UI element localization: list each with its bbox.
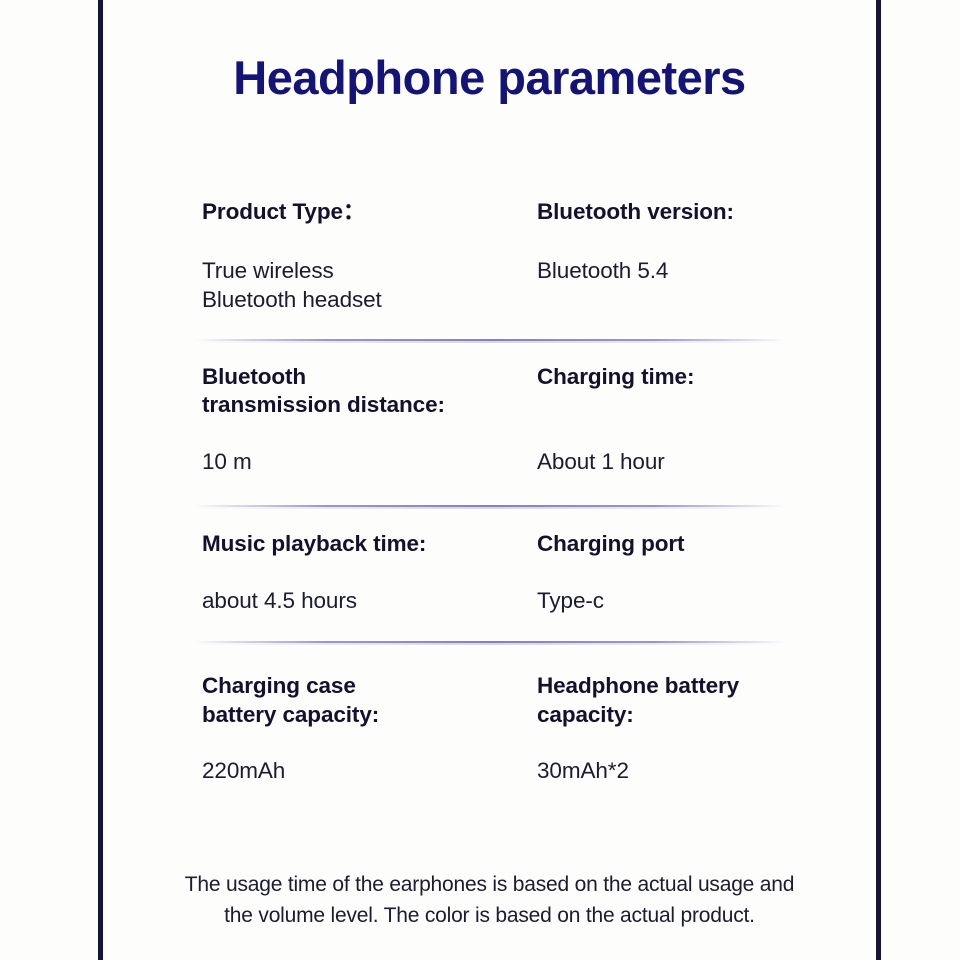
spec-value: Type-c [537,587,876,615]
spec-sheet-page: Headphone parameters Product Type： True … [0,0,960,960]
spec-label: Bluetooth version: [537,198,876,226]
spec-cell-product-type: Product Type： True wireless Bluetooth he… [103,178,470,314]
specification-table: Product Type： True wireless Bluetooth he… [103,178,876,785]
table-row: Music playback time: about 4.5 hours Cha… [103,507,876,616]
spec-value: about 4.5 hours [202,587,470,615]
spec-cell-bluetooth-version: Bluetooth version: Bluetooth 5.4 [470,178,876,314]
spec-value: 30mAh*2 [537,757,876,785]
spec-cell-charging-time: Charging time: About 1 hour [470,341,876,477]
spec-label: Bluetooth transmission distance: [202,363,470,420]
spec-label: Charging time: [537,363,876,391]
footnote: The usage time of the earphones is based… [103,869,876,931]
table-row: Bluetooth transmission distance: 10 m Ch… [103,341,876,477]
spec-label: Headphone battery capacity: [537,672,876,729]
spec-value: 10 m [202,448,470,476]
spec-value: 220mAh [202,757,470,785]
spec-value: Bluetooth 5.4 [537,257,876,285]
spec-label: Charging port [537,530,876,558]
frame-rule-right [876,0,881,960]
table-row: Product Type： True wireless Bluetooth he… [103,178,876,314]
spec-label: Charging case battery capacity: [202,672,470,729]
spec-value: About 1 hour [537,448,876,476]
spec-cell-headphone-battery-capacity: Headphone battery capacity: 30mAh*2 [470,643,876,785]
table-row: Charging case battery capacity: 220mAh H… [103,643,876,785]
spec-label: Product Type： [202,198,470,226]
footnote-line-2: the volume level. The color is based on … [103,900,876,931]
footnote-line-1: The usage time of the earphones is based… [103,869,876,900]
spec-label: Music playback time: [202,530,470,558]
spec-cell-music-playback-time: Music playback time: about 4.5 hours [103,507,470,616]
spec-cell-charging-port: Charging port Type-c [470,507,876,616]
spec-value: True wireless Bluetooth headset [202,257,470,314]
page-title: Headphone parameters [103,50,876,105]
spec-cell-transmission-distance: Bluetooth transmission distance: 10 m [103,341,470,477]
content-area: Headphone parameters Product Type： True … [103,0,876,960]
spec-cell-charging-case-capacity: Charging case battery capacity: 220mAh [103,643,470,785]
